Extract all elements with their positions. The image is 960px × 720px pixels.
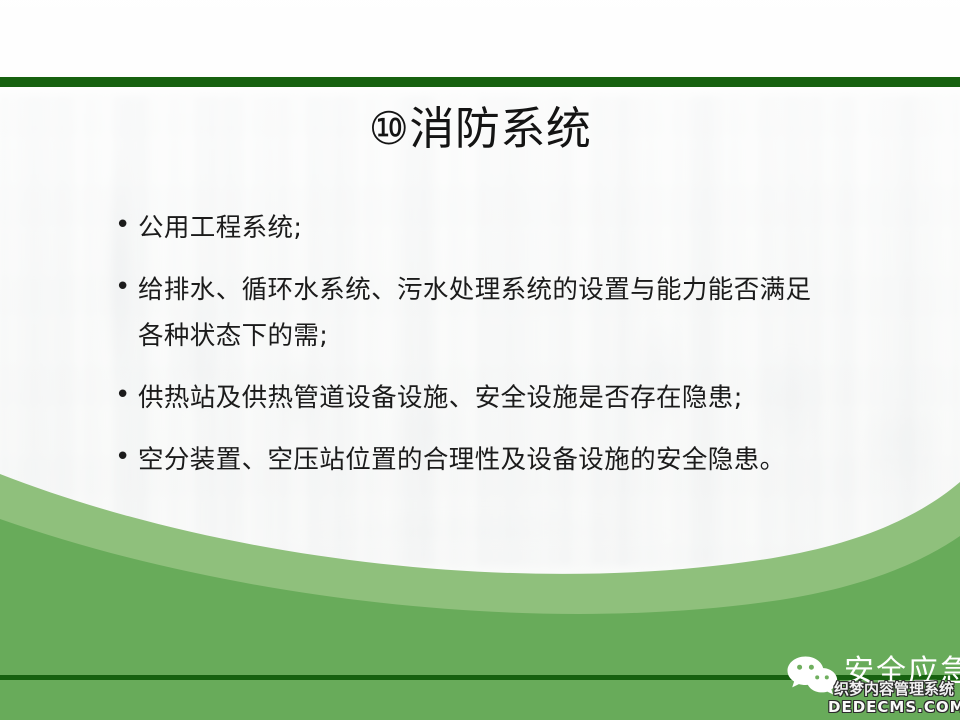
brand-lockup: 安全应急: [786, 650, 960, 712]
bullet-marker-icon: •: [112, 437, 138, 477]
list-item: • 供热站及供热管道设备设施、安全设施是否存在隐患;: [112, 375, 902, 421]
list-item-line-1: 给排水、循环水系统、污水处理系统的设置与能力能否满足: [138, 275, 811, 305]
list-item: • 空分装置、空压站位置的合理性及设备设施的安全隐患。: [112, 437, 902, 483]
bullet-marker-icon: •: [112, 375, 138, 415]
list-item-text: 空分装置、空压站位置的合理性及设备设施的安全隐患。: [138, 437, 902, 483]
list-item-text: 公用工程系统;: [138, 205, 902, 251]
wechat-icon: [786, 654, 840, 696]
page-title: ⑩消防系统: [0, 104, 960, 154]
brand-name-label: 安全应急: [844, 652, 960, 692]
bullet-marker-icon: •: [112, 267, 138, 307]
list-item: • 公用工程系统;: [112, 205, 902, 251]
list-item-text: 给排水、循环水系统、污水处理系统的设置与能力能否满足 各种状态下的需;: [138, 267, 902, 359]
slide-canvas: ⑩消防系统 • 公用工程系统; • 给排水、循环水系统、污水处理系统的设置与能力…: [0, 0, 960, 720]
bullet-list: • 公用工程系统; • 给排水、循环水系统、污水处理系统的设置与能力能否满足 各…: [112, 205, 902, 499]
bullet-marker-icon: •: [112, 205, 138, 245]
top-green-rule: [0, 77, 960, 87]
list-item-text: 供热站及供热管道设备设施、安全设施是否存在隐患;: [138, 375, 902, 421]
list-item-line-2: 各种状态下的需;: [138, 313, 902, 359]
list-item: • 给排水、循环水系统、污水处理系统的设置与能力能否满足 各种状态下的需;: [112, 267, 902, 359]
